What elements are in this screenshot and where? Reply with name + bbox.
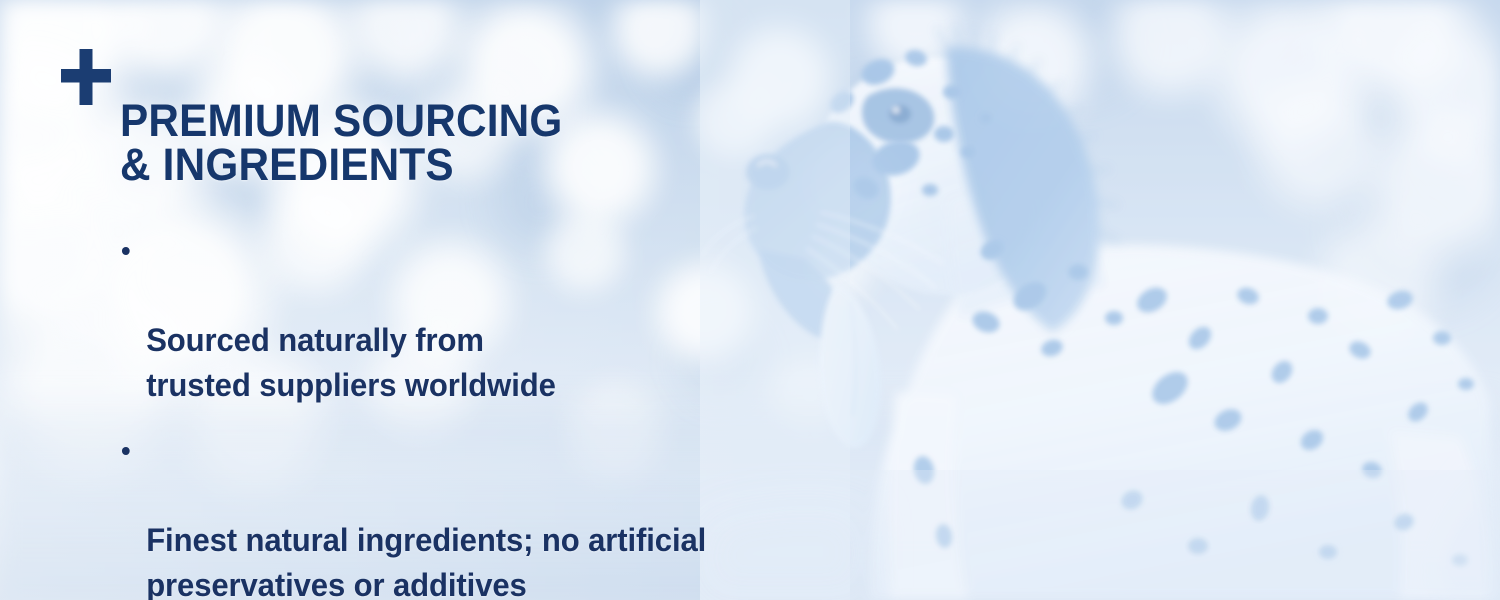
bullet-dot-icon [122, 247, 130, 255]
feature-list: Sourced naturally from trusted suppliers… [120, 228, 760, 600]
list-item-label: Sourced naturally from trusted suppliers… [146, 322, 556, 403]
plus-cross-icon [61, 49, 111, 105]
dalmatian-dog-image [700, 0, 1500, 600]
list-item: Finest natural ingredients; no artificia… [120, 428, 741, 600]
list-item: Sourced naturally from trusted suppliers… [120, 228, 741, 408]
promo-banner: PREMIUM SOURCING & INGREDIENTS Sourced n… [0, 0, 1500, 600]
bullet-dot-icon [122, 447, 130, 455]
list-item-label: Finest natural ingredients; no artificia… [146, 522, 706, 600]
banner-content: PREMIUM SOURCING & INGREDIENTS Sourced n… [0, 0, 780, 600]
page-title: PREMIUM SOURCING & INGREDIENTS [120, 99, 562, 187]
